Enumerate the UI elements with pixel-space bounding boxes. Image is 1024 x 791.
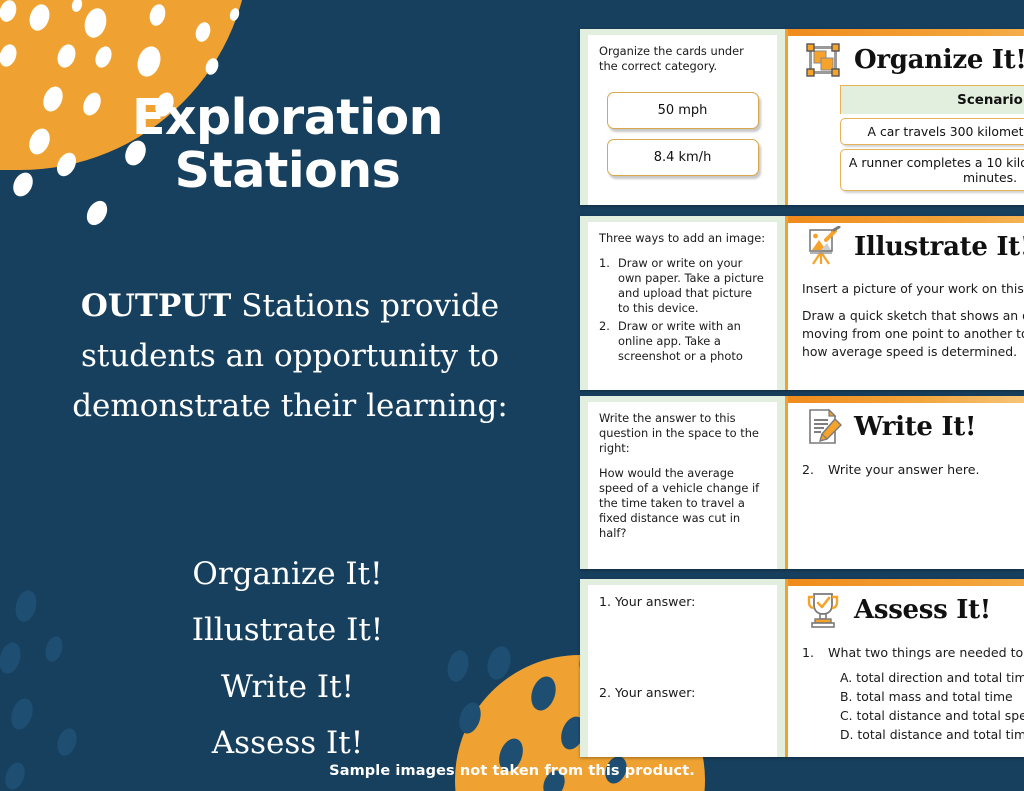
slide-left-pane: Three ways to add an image: 1. Draw or w… xyxy=(580,216,785,390)
answer-choice[interactable]: D. total distance and total time xyxy=(840,726,1024,745)
list-item: 1. Draw or write on your own paper. Take… xyxy=(599,256,766,316)
answer-prompt[interactable]: Write your answer here. xyxy=(828,462,979,477)
slide-right-pane: Organize It! Scenario A car travels 300 … xyxy=(785,29,1024,205)
sort-card-chip[interactable]: 50 mph xyxy=(607,92,759,129)
slide-header: Assess It! xyxy=(802,589,1024,631)
answer-choice[interactable]: A. total direction and total time xyxy=(840,669,1024,688)
steps-list: 1. Draw or write on your own paper. Take… xyxy=(599,256,766,364)
answer-choice[interactable]: B. total mass and total time xyxy=(840,688,1024,707)
list-item-text: Draw or write with an online app. Take a… xyxy=(618,319,766,364)
instruction-text: Write the answer to this question in the… xyxy=(599,411,766,456)
slide-left-content: Organize the cards under the correct cat… xyxy=(588,35,777,205)
trophy-check-icon xyxy=(802,589,844,631)
organize-frame-icon xyxy=(802,39,844,81)
question-row: 1. What two things are needed to find av… xyxy=(802,645,1024,660)
answer-choices: A. total direction and total time B. tot… xyxy=(802,669,1024,744)
answer-choice[interactable]: C. total distance and total speed xyxy=(840,707,1024,726)
slide-header: Write It! xyxy=(802,406,1024,448)
slide-left-content: Three ways to add an image: 1. Draw or w… xyxy=(588,222,777,390)
answer-slot[interactable]: 2. Your answer: xyxy=(599,685,766,702)
station-list-item: Write It! xyxy=(0,659,575,715)
instruction-text: Organize the cards under the correct cat… xyxy=(599,44,766,74)
question-text: What two things are needed to find avera… xyxy=(828,645,1024,660)
station-list-item: Organize It! xyxy=(0,546,575,602)
slide-right-pane: Write It! 2. Write your answer here. xyxy=(785,396,1024,569)
left-text-column: Exploration Stations OUTPUT Stations pro… xyxy=(0,0,575,791)
instruction-text: Three ways to add an image: xyxy=(599,231,766,246)
slide-left-pane: 1. Your answer: 2. Your answer: xyxy=(580,579,785,757)
slide-paragraph: Insert a picture of your work on this sl… xyxy=(802,280,1024,298)
slide-title: Organize It! xyxy=(854,45,1024,75)
slide-header: Illustrate It! xyxy=(802,226,1024,268)
scenario-table: Scenario A car travels 300 kilometers in… xyxy=(840,85,1024,191)
answer-slot[interactable]: 1. Your answer: xyxy=(599,594,766,611)
sample-slide-illustrate-it: Three ways to add an image: 1. Draw or w… xyxy=(580,216,1024,390)
slide-paragraph: Draw a quick sketch that shows an object… xyxy=(802,307,1024,361)
title-line-1: Exploration xyxy=(0,92,575,145)
slide-header: Organize It! xyxy=(802,39,1024,81)
slide-left-pane: Organize the cards under the correct cat… xyxy=(580,29,785,205)
document-pencil-icon xyxy=(802,406,844,448)
easel-paintbrush-icon xyxy=(802,226,844,268)
slide-left-pane: Write the answer to this question in the… xyxy=(580,396,785,569)
body-description: OUTPUT Stations provide students an oppo… xyxy=(34,281,546,432)
question-number: 1. xyxy=(802,645,814,660)
footnote-disclaimer: Sample images not taken from this produc… xyxy=(0,763,1024,779)
sample-slide-assess-it: 1. Your answer: 2. Your answer: xyxy=(580,579,1024,757)
slide-left-content: 1. Your answer: 2. Your answer: xyxy=(588,585,777,757)
sample-slide-write-it: Write the answer to this question in the… xyxy=(580,396,1024,569)
station-list: Organize It! Illustrate It! Write It! As… xyxy=(0,546,575,772)
title-line-2: Stations xyxy=(0,145,575,198)
slide-right-pane: Illustrate It! Insert a picture of your … xyxy=(785,216,1024,390)
page-title: Exploration Stations xyxy=(0,92,575,198)
slide-title: Write It! xyxy=(854,412,976,442)
station-list-item: Illustrate It! xyxy=(0,602,575,658)
answer-row: 2. Write your answer here. xyxy=(802,462,1024,477)
slide-title: Illustrate It! xyxy=(854,232,1024,262)
sort-card-chip[interactable]: 8.4 km/h xyxy=(607,139,759,176)
slide-canvas: Exploration Stations OUTPUT Stations pro… xyxy=(0,0,1024,791)
answer-number: 2. xyxy=(802,462,814,477)
scenario-row[interactable]: A runner completes a 10 kilometer race i… xyxy=(840,149,1024,191)
scenario-table-header: Scenario xyxy=(840,85,1024,114)
list-item-text: Draw or write on your own paper. Take a … xyxy=(618,256,766,316)
slide-right-pane: Assess It! 1. What two things are needed… xyxy=(785,579,1024,757)
list-item: 2. Draw or write with an online app. Tak… xyxy=(599,319,766,364)
scenario-row[interactable]: A car travels 300 kilometers in 3 hours. xyxy=(840,118,1024,145)
list-item-number: 2. xyxy=(599,319,618,364)
sample-slide-organize-it: Organize the cards under the correct cat… xyxy=(580,29,1024,205)
slide-left-content: Write the answer to this question in the… xyxy=(588,402,777,569)
slide-title: Assess It! xyxy=(854,595,991,625)
list-item-number: 1. xyxy=(599,256,618,316)
body-bold-term: OUTPUT xyxy=(81,288,232,324)
sample-slide-stack: Organize the cards under the correct cat… xyxy=(580,0,1024,791)
question-text: How would the average speed of a vehicle… xyxy=(599,466,766,541)
